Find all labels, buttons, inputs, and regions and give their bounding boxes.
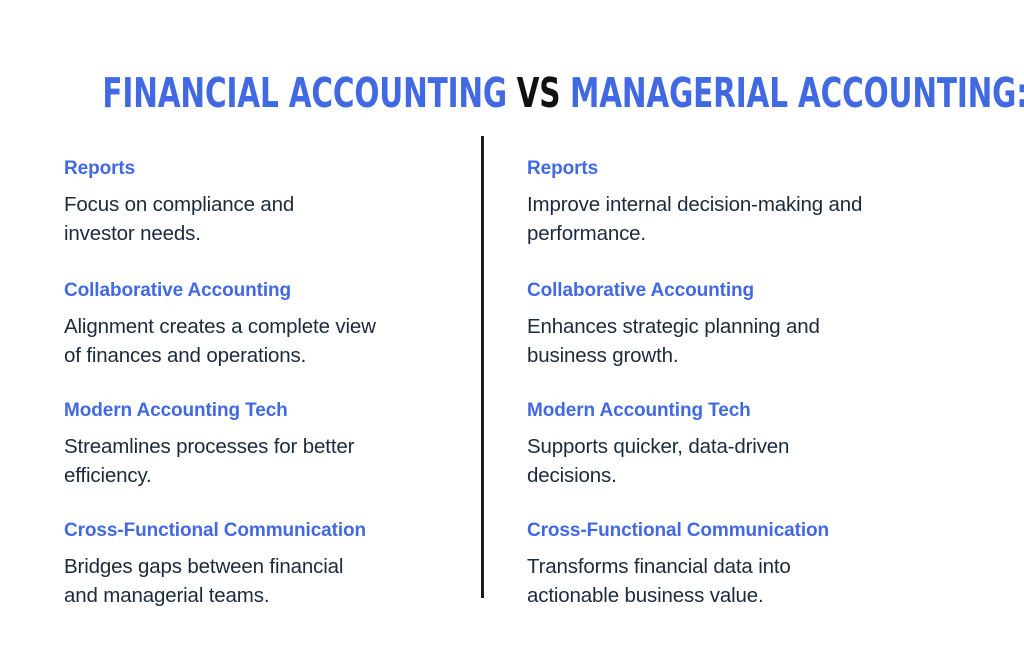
section-body: Transforms financial data into actionabl… [527, 552, 947, 610]
body-line: business growth. [527, 341, 947, 370]
column-managerial-accounting: Reports Improve internal decision-making… [527, 136, 947, 610]
section-heading: Reports [64, 156, 464, 181]
column-divider [481, 136, 484, 598]
body-line: and managerial teams. [64, 581, 464, 610]
body-line: of finances and operations. [64, 341, 464, 370]
section-heading: Cross-Functional Communication [64, 518, 464, 543]
section-heading: Cross-Functional Communication [527, 518, 947, 543]
body-line: Improve internal decision-making and [527, 190, 947, 219]
body-line: Alignment creates a complete view [64, 312, 464, 341]
body-line: decisions. [527, 461, 947, 490]
section-body: Improve internal decision-making and per… [527, 190, 947, 248]
title-part-vs: VS [517, 69, 561, 117]
body-line: Supports quicker, data-driven [527, 432, 947, 461]
body-line: efficiency. [64, 461, 464, 490]
body-line: Streamlines processes for better [64, 432, 464, 461]
comparison-columns: Reports Focus on compliance and investor… [0, 136, 1024, 606]
section-reports: Reports Improve internal decision-making… [527, 156, 947, 248]
section-body: Bridges gaps between financial and manag… [64, 552, 464, 610]
title-part-managerial: MANAGERIAL ACCOUNTING: [570, 69, 1024, 117]
section-body: Focus on compliance and investor needs. [64, 190, 464, 248]
section-heading: Reports [527, 156, 947, 181]
slide-canvas: FINANCIAL ACCOUNTINGVSMANAGERIAL ACCOUNT… [0, 0, 1024, 662]
body-line: investor needs. [64, 219, 464, 248]
column-financial-accounting: Reports Focus on compliance and investor… [64, 136, 464, 610]
body-line: actionable business value. [527, 581, 947, 610]
section-collaborative-accounting: Collaborative Accounting Alignment creat… [64, 278, 464, 370]
section-body: Supports quicker, data-driven decisions. [527, 432, 947, 490]
title-part-financial: FINANCIAL ACCOUNTING [102, 69, 507, 117]
body-line: Focus on compliance and [64, 190, 464, 219]
body-line: performance. [527, 219, 947, 248]
section-collaborative-accounting: Collaborative Accounting Enhances strate… [527, 278, 947, 370]
body-line: Bridges gaps between financial [64, 552, 464, 581]
section-modern-accounting-tech: Modern Accounting Tech Supports quicker,… [527, 398, 947, 490]
section-body: Enhances strategic planning and business… [527, 312, 947, 370]
section-heading: Collaborative Accounting [64, 278, 464, 303]
section-modern-accounting-tech: Modern Accounting Tech Streamlines proce… [64, 398, 464, 490]
body-line: Enhances strategic planning and [527, 312, 947, 341]
section-cross-functional-communication: Cross-Functional Communication Transform… [527, 518, 947, 610]
body-line: Transforms financial data into [527, 552, 947, 581]
section-heading: Modern Accounting Tech [64, 398, 464, 423]
section-body: Alignment creates a complete view of fin… [64, 312, 464, 370]
section-reports: Reports Focus on compliance and investor… [64, 156, 464, 248]
section-heading: Modern Accounting Tech [527, 398, 947, 423]
section-cross-functional-communication: Cross-Functional Communication Bridges g… [64, 518, 464, 610]
section-body: Streamlines processes for better efficie… [64, 432, 464, 490]
page-title: FINANCIAL ACCOUNTINGVSMANAGERIAL ACCOUNT… [102, 68, 921, 118]
section-heading: Collaborative Accounting [527, 278, 947, 303]
